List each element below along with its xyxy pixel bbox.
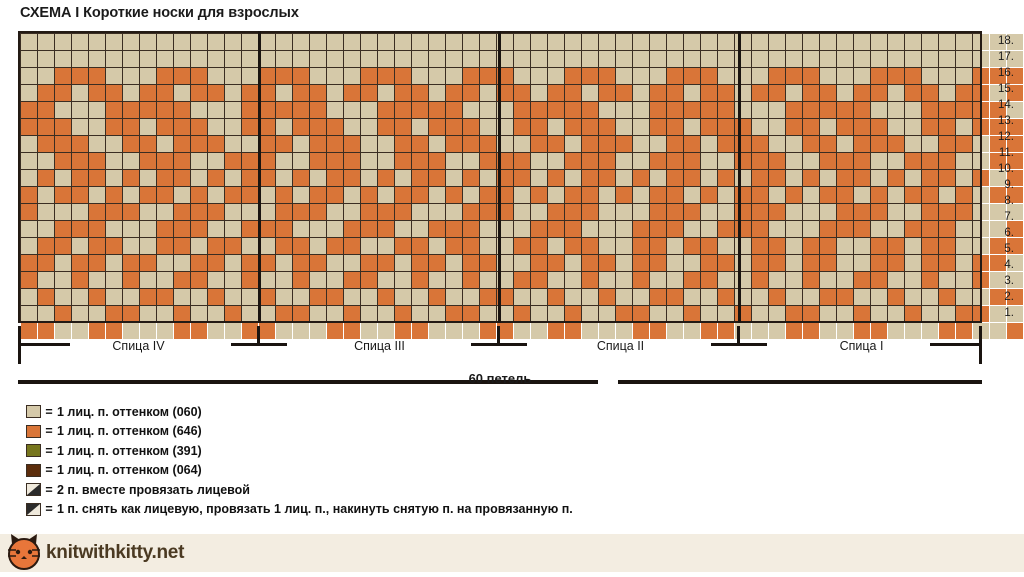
needle-tick-3 [737,326,740,344]
chart-cell [276,85,292,101]
chart-cell [650,187,666,203]
chart-cell [191,187,207,203]
chart-cell [769,170,785,186]
chart-cell [38,119,54,135]
chart-cell [191,204,207,220]
chart-cell [429,85,445,101]
chart-cell [701,34,717,50]
chart-cell [650,272,666,288]
legend-row: =1 лиц. п. оттенком (391) [26,441,573,461]
chart-cell [616,102,632,118]
chart-cell [633,255,649,271]
chart-cell [21,272,37,288]
chart-cell [21,255,37,271]
chart-cell [888,51,904,67]
chart-cell [157,255,173,271]
chart-cell [446,306,462,322]
chart-cell [310,102,326,118]
chart-cell [667,102,683,118]
chart-cell [854,221,870,237]
chart-cell [446,119,462,135]
chart-cell [616,289,632,305]
chart-cell [174,102,190,118]
legend-color-swatch [26,405,41,418]
chart-cell [871,34,887,50]
chart-cell [752,289,768,305]
chart-cell [514,102,530,118]
chart-cell [531,153,547,169]
chart-cell [905,255,921,271]
chart-cell [429,238,445,254]
chart-cell [140,238,156,254]
chart-cell [38,187,54,203]
chart-cell [769,272,785,288]
chart-cell [259,170,275,186]
chart-cell [123,51,139,67]
legend-equals: = [41,463,57,477]
chart-cell [225,136,241,152]
chart-cell [531,289,547,305]
chart-cell [293,119,309,135]
chart-cell [208,272,224,288]
chart-cell [174,289,190,305]
chart-cell [973,102,989,118]
chart-cell [191,102,207,118]
chart-cell [157,170,173,186]
chart-cell [769,85,785,101]
chart-cell [650,170,666,186]
chart-cell [429,136,445,152]
chart-cell [89,51,105,67]
chart-cell [973,204,989,220]
chart-cell [259,34,275,50]
chart-cell [276,102,292,118]
chart-cell [225,221,241,237]
chart-cell [956,153,972,169]
chart-cell [38,68,54,84]
row-number: 3. [988,273,1014,289]
chart-cell [310,68,326,84]
chart-cell [106,306,122,322]
chart-cell [276,238,292,254]
chart-cell [837,119,853,135]
chart-cell [786,119,802,135]
chart-cell [225,170,241,186]
chart-cell [208,238,224,254]
chart-cell [38,255,54,271]
chart-cell [344,170,360,186]
chart-cell [616,255,632,271]
chart-cell [803,255,819,271]
chart-cell [480,102,496,118]
chart-cell [939,238,955,254]
row-number: 13. [988,113,1014,129]
stitch-count-bar: 60 петель [18,360,982,390]
chart-cell [616,34,632,50]
chart-cell [310,85,326,101]
chart-cell [803,289,819,305]
chart-cell [769,255,785,271]
chart-cell [157,85,173,101]
chart-cell [633,187,649,203]
chart-cell [514,170,530,186]
chart-cell [939,289,955,305]
chart-cell [565,306,581,322]
chart-cell [888,85,904,101]
needle-separator-2 [498,31,501,323]
chart-cell [684,34,700,50]
chart-cell [361,204,377,220]
chart-cell [616,85,632,101]
chart-cell [293,170,309,186]
chart-cell [242,221,258,237]
chart-cell [21,34,37,50]
chart-cell [565,255,581,271]
chart-cell [548,34,564,50]
chart-cell [616,51,632,67]
chart-cell [395,255,411,271]
chart-cell [174,51,190,67]
chart-cell [837,255,853,271]
chart-cell [310,221,326,237]
chart-cell [871,289,887,305]
chart-cell [854,289,870,305]
chart-cell [463,272,479,288]
chart-cell [378,221,394,237]
chart-cell [939,187,955,203]
chart-cell [446,85,462,101]
chart-cell [599,306,615,322]
chart-cell [650,204,666,220]
chart-cell [225,272,241,288]
chart-cell [956,238,972,254]
chart-cell [72,221,88,237]
chart-cell [854,153,870,169]
chart-cell [55,238,71,254]
chart-cell [820,51,836,67]
row-number: 12. [988,129,1014,145]
chart-cell [395,85,411,101]
needle-tick-bar-1 [231,343,287,346]
chart-cell [633,238,649,254]
chart-cell [582,34,598,50]
chart-cell [939,136,955,152]
chart-cell [786,34,802,50]
chart-cell [395,272,411,288]
chart-cell [803,136,819,152]
chart-cell [837,289,853,305]
chart-cell [905,119,921,135]
chart-cell [412,102,428,118]
chart-cell [140,255,156,271]
chart-cell [582,85,598,101]
chart-cell [225,238,241,254]
chart-cell [854,119,870,135]
chart-cell [89,306,105,322]
chart-cell [225,204,241,220]
chart-cell [752,238,768,254]
chart-cell [871,68,887,84]
chart-cell [820,85,836,101]
chart-cell [446,153,462,169]
row-number: 14. [988,97,1014,113]
chart-cell [667,153,683,169]
chart-cell [259,187,275,203]
chart-cell [854,51,870,67]
chart-cell [463,204,479,220]
chart-cell [684,204,700,220]
chart-cell [157,119,173,135]
chart-cell [276,289,292,305]
chart-cell [38,136,54,152]
chart-cell [140,289,156,305]
chart-cell [633,289,649,305]
chart-cell [446,204,462,220]
chart-cell [327,34,343,50]
chart-cell [582,187,598,203]
chart-cell [361,153,377,169]
chart-cell [480,51,496,67]
chart-cell [939,272,955,288]
chart-cell [973,306,989,322]
chart-cell [361,102,377,118]
chart-cell [72,136,88,152]
legend-label: 1 лиц. п. оттенком (391) [57,444,202,458]
chart-cell [786,238,802,254]
chart-cell [667,34,683,50]
chart-cell [327,119,343,135]
chart-cell [837,204,853,220]
chart-cell [956,136,972,152]
chart-cell [956,221,972,237]
chart-cell [956,68,972,84]
chart-cell [803,68,819,84]
chart-cell [650,119,666,135]
chart-cell [752,119,768,135]
chart-cell [344,221,360,237]
chart-cell [242,85,258,101]
chart-cell [752,187,768,203]
chart-cell [701,119,717,135]
chart-cell [769,119,785,135]
chart-cell [514,68,530,84]
chart-cell [837,102,853,118]
chart-cell [276,204,292,220]
chart-cell [667,238,683,254]
chart-cell [157,136,173,152]
chart-cell [565,153,581,169]
chart-cell [565,119,581,135]
chart-cell [378,136,394,152]
chart-cell [548,289,564,305]
chart-cell [259,136,275,152]
chart-cell [514,272,530,288]
chart-cell [140,102,156,118]
chart-cell [276,34,292,50]
chart-cell [429,51,445,67]
chart-cell [633,221,649,237]
chart-cell [633,306,649,322]
chart-cell [531,170,547,186]
chart-cell [939,119,955,135]
chart-cell [701,85,717,101]
chart-cell [89,119,105,135]
chart-cell [55,204,71,220]
chart-cell [565,102,581,118]
chart-cell [412,136,428,152]
chart-cell [446,51,462,67]
chart-cell [973,272,989,288]
chart-cell [157,204,173,220]
chart-cell [786,306,802,322]
chart-cell [871,102,887,118]
chart-cell [599,85,615,101]
chart-cell [276,187,292,203]
chart-cell [140,272,156,288]
chart-cell [140,68,156,84]
needle-label-3: Спица II [551,339,691,353]
chart-cell [973,153,989,169]
chart-cell [21,85,37,101]
chart-cell [888,221,904,237]
chart-cell [344,102,360,118]
chart-cell [344,119,360,135]
chart-cell [293,136,309,152]
chart-cell [208,85,224,101]
chart-cell [650,221,666,237]
chart-cell [174,153,190,169]
chart-cell [242,187,258,203]
chart-cell [514,34,530,50]
chart-cell [701,306,717,322]
chart-cell [174,136,190,152]
chart-cell [701,136,717,152]
chart-cell [582,238,598,254]
legend-label: 1 лиц. п. оттенком (064) [57,463,202,477]
chart-cell [565,204,581,220]
chart-cell [395,204,411,220]
chart-cell [72,85,88,101]
chart-cell [922,34,938,50]
chart-cell [769,51,785,67]
chart-cell [378,272,394,288]
chart-cell [208,204,224,220]
chart-cell [412,306,428,322]
chart-cell [21,289,37,305]
site-url[interactable]: knitwithkitty.net [46,542,184,564]
chart-cell [55,187,71,203]
chart-cell [293,68,309,84]
chart-cell [854,102,870,118]
chart-cell [599,119,615,135]
chart-cell [837,34,853,50]
chart-cell [361,119,377,135]
chart-cell [55,85,71,101]
chart-cell [208,289,224,305]
chart-cell [531,272,547,288]
chart-cell [820,187,836,203]
legend-equals: = [41,483,57,497]
chart-cell [939,68,955,84]
chart-cell [361,289,377,305]
chart-cell [701,204,717,220]
chart-cell [565,272,581,288]
chart-cell [242,238,258,254]
needle-tick-bar-3 [711,343,767,346]
chart-cell [548,306,564,322]
chart-cell [599,221,615,237]
legend-row: =2 п. вместе провязать лицевой [26,480,573,500]
chart-cell [922,204,938,220]
chart-cell [463,136,479,152]
chart-cell [123,119,139,135]
chart-cell [174,272,190,288]
chart-cell [956,255,972,271]
chart-cell [378,34,394,50]
chart-cell [412,85,428,101]
chart-cell [667,289,683,305]
chart-cell [327,85,343,101]
chart-cell [616,170,632,186]
bracket-tick-right [930,343,982,346]
chart-cell [225,187,241,203]
chart-cell [514,289,530,305]
chart-cell [463,306,479,322]
chart-cell [854,238,870,254]
chart-cell [599,204,615,220]
chart-cell [242,306,258,322]
chart-cell [123,136,139,152]
chart-cell [38,306,54,322]
chart-cell [582,51,598,67]
chart-cell [514,153,530,169]
chart-cell [531,102,547,118]
chart-cell [956,187,972,203]
chart-cell [871,136,887,152]
chart-cell [225,85,241,101]
chart-cell [429,187,445,203]
chart-cell [21,187,37,203]
chart-cell [973,136,989,152]
chart-cell [667,51,683,67]
chart-cell [718,238,734,254]
chart-cell [208,68,224,84]
chart-cell [480,34,496,50]
chart-cell [973,221,989,237]
chart-cell [276,136,292,152]
chart-cell [72,34,88,50]
chart-cell [956,85,972,101]
chart-cell [463,238,479,254]
chart-cell [667,306,683,322]
legend-row: =1 п. снять как лицевую, провязать 1 лиц… [26,500,573,520]
chart-cell [922,102,938,118]
chart-cell [327,306,343,322]
chart-cell [89,272,105,288]
chart-cell [650,68,666,84]
chart-cell [531,255,547,271]
chart-cell [378,119,394,135]
chart-cell [446,34,462,50]
chart-cell [429,34,445,50]
chart-cell [684,136,700,152]
chart-cell [531,34,547,50]
chart-cell [803,51,819,67]
chart-cell [191,255,207,271]
chart-cell [599,187,615,203]
chart-cell [616,187,632,203]
chart-cell [208,221,224,237]
